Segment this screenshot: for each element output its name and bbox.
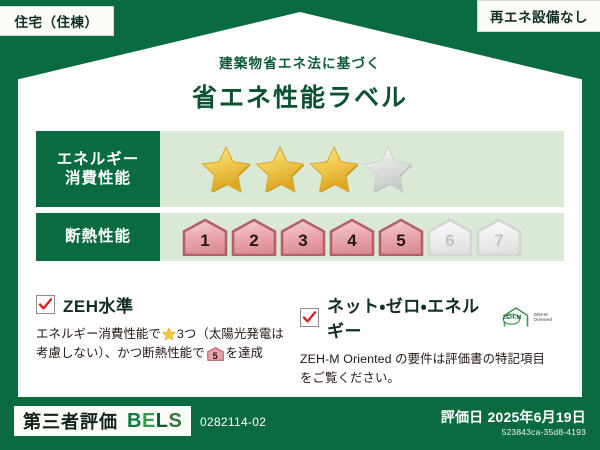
evaluation-id: 523843ca-35d8-4193 bbox=[502, 427, 586, 437]
title-block: 建築物省エネ法に基づく 省エネ性能ラベル bbox=[0, 52, 600, 114]
insulation-level-filled: 3 bbox=[280, 218, 326, 256]
inline-star-icon bbox=[162, 327, 176, 341]
star-filled-icon bbox=[200, 144, 252, 194]
net-zero-energy-checkbox[interactable] bbox=[300, 308, 319, 327]
bels-letter-e: E bbox=[142, 410, 156, 432]
insulation-performance-label: 断熱性能 bbox=[36, 213, 160, 261]
insulation-level-value: 1 bbox=[200, 232, 209, 256]
zeh-standard-description: エネルギー消費性能で3つ（太陽光発電は考慮しない）、かつ断熱性能で5を達成 bbox=[36, 325, 288, 363]
insulation-level-filled: 5 bbox=[378, 218, 424, 256]
insulation-level-filled: 4 bbox=[329, 218, 375, 256]
star-empty-icon bbox=[362, 144, 414, 194]
bels-letter-b: B bbox=[127, 410, 142, 432]
insulation-level-value: 3 bbox=[298, 232, 307, 256]
energy-performance-label: エネルギー 消費性能 bbox=[36, 131, 160, 207]
zeh-standard-checkbox[interactable] bbox=[36, 295, 55, 314]
insulation-level-value: 4 bbox=[347, 232, 356, 256]
insulation-level-value: 2 bbox=[249, 232, 258, 256]
insulation-level-value: 5 bbox=[396, 232, 405, 256]
zeh-m-caption-line2: Oriented bbox=[533, 317, 552, 322]
net-zero-energy-block: ネット・ゼロ・エネルギー ZEH-M ZEH-M Oriented bbox=[300, 292, 564, 388]
inline-house-badge-value: 5 bbox=[207, 347, 224, 361]
energy-label-root: 住宅（住棟） 再エネ設備なし 建築物省エネ法に基づく 省エネ性能ラベル エネルギ… bbox=[0, 0, 600, 450]
star-filled-icon bbox=[254, 144, 306, 194]
insulation-performance-row: 断熱性能 1234567 bbox=[36, 213, 564, 261]
bels-letter-l: L bbox=[156, 410, 169, 432]
net-zero-energy-title: ネット・ゼロ・エネルギー bbox=[327, 292, 489, 342]
zeh-standard-title: ZEH水準 bbox=[63, 292, 134, 317]
performance-rows: エネルギー 消費性能 断熱性能 1234567 bbox=[36, 131, 564, 267]
zeh-desc-post: を達成 bbox=[226, 346, 263, 360]
net-zero-energy-description: ZEH-M Oriented の要件は評価書の特記項目をご覧ください。 bbox=[300, 350, 552, 388]
title-subtitle: 建築物省エネ法に基づく bbox=[0, 52, 600, 72]
star-filled-icon bbox=[308, 144, 360, 194]
insulation-level-empty: 7 bbox=[476, 218, 522, 256]
insulation-level-value: 7 bbox=[494, 232, 503, 256]
evaluation-date: 評価日 2025年6月19日 bbox=[441, 407, 586, 427]
insulation-level-value: 6 bbox=[445, 232, 454, 256]
energy-label-line2: 消費性能 bbox=[65, 169, 131, 188]
bels-wordmark: BELS bbox=[127, 410, 182, 433]
bels-letter-s: S bbox=[169, 410, 183, 432]
star-rating bbox=[160, 131, 564, 207]
insulation-label-line1: 断熱性能 bbox=[65, 227, 131, 246]
zeh-m-logo: ZEH-M ZEH-M Oriented bbox=[501, 306, 552, 328]
energy-performance-row: エネルギー 消費性能 bbox=[36, 131, 564, 207]
page-title: 省エネ性能ラベル bbox=[0, 78, 600, 114]
bels-number: 0282114-02 bbox=[200, 415, 266, 429]
third-party-eval-label: 第三者評価 bbox=[23, 408, 118, 434]
bels-badge: 第三者評価 BELS bbox=[14, 406, 191, 436]
inline-house-badge: 5 bbox=[207, 347, 224, 361]
evaluation-date-value: 2025年6月19日 bbox=[487, 409, 586, 425]
insulation-level-filled: 1 bbox=[182, 218, 228, 256]
certification-checks: ZEH水準 エネルギー消費性能で3つ（太陽光発電は考慮しない）、かつ断熱性能で5… bbox=[36, 292, 564, 388]
footer-bar: 第三者評価 BELS 0282114-02 評価日 2025年6月19日 523… bbox=[0, 398, 600, 450]
zeh-desc-pre: エネルギー消費性能で bbox=[36, 327, 161, 341]
energy-label-line1: エネルギー bbox=[57, 150, 140, 169]
zeh-standard-block: ZEH水準 エネルギー消費性能で3つ（太陽光発電は考慮しない）、かつ断熱性能で5… bbox=[36, 292, 300, 388]
insulation-level-scale: 1234567 bbox=[182, 218, 522, 256]
insulation-level-filled: 2 bbox=[231, 218, 277, 256]
building-type-tag: 住宅（住棟） bbox=[0, 6, 114, 36]
evaluation-date-label: 評価日 bbox=[441, 409, 484, 425]
insulation-level-empty: 6 bbox=[427, 218, 473, 256]
zeh-m-mark: ZEH-M bbox=[501, 315, 522, 321]
renewable-equipment-tag: 再エネ設備なし bbox=[477, 0, 600, 32]
